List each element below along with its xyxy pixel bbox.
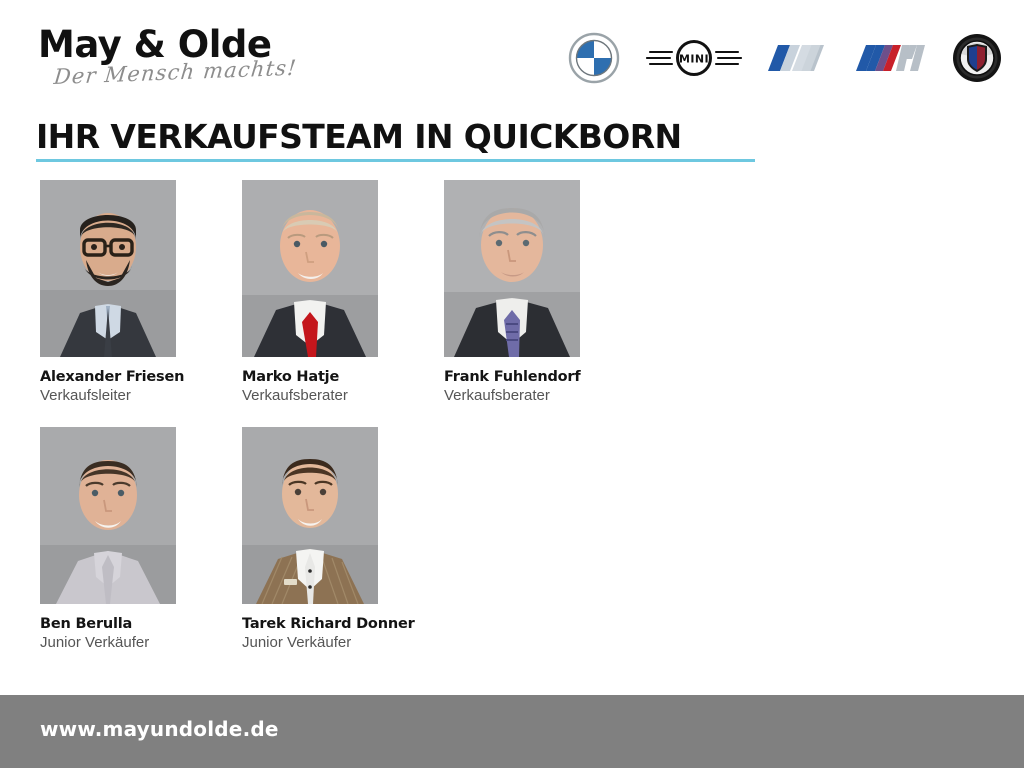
member-role: Junior Verkäufer	[40, 634, 176, 653]
team-grid: Alexander Friesen Verkaufsleiter	[40, 180, 980, 674]
portrait-photo-alexander-friesen	[40, 180, 176, 357]
member-name: Marko Hatje	[242, 368, 378, 386]
page-header: May & Olde Der Mensch machts!	[0, 0, 1024, 112]
bmw-logo	[568, 30, 620, 86]
member-name: Alexander Friesen	[40, 368, 176, 386]
svg-text:MINI: MINI	[679, 53, 709, 66]
portrait-photo-frank-fuhlendorf	[444, 180, 580, 357]
team-member-card[interactable]: Alexander Friesen Verkaufsleiter	[40, 180, 176, 406]
member-name: Tarek Richard Donner	[242, 615, 378, 633]
team-row: Ben Berulla Junior Verkäufer	[40, 427, 980, 653]
portrait-photo-ben-berulla	[40, 427, 176, 604]
member-name: Ben Berulla	[40, 615, 176, 633]
team-member-card[interactable]: Frank Fuhlendorf Verkaufsberater	[444, 180, 580, 406]
member-role: Verkaufsberater	[444, 387, 580, 406]
mini-logo: MINI	[646, 30, 742, 86]
team-member-card[interactable]: Tarek Richard Donner Junior Verkäufer	[242, 427, 378, 653]
bmw-m-logo	[856, 30, 926, 86]
footer-website-url[interactable]: www.mayundolde.de	[40, 717, 279, 741]
brand-logo-strip: MINI	[568, 30, 1002, 86]
member-role: Verkaufsleiter	[40, 387, 176, 406]
portrait-photo-tarek-richard-donner	[242, 427, 378, 604]
portrait-photo-marko-hatje	[242, 180, 378, 357]
member-name: Frank Fuhlendorf	[444, 368, 580, 386]
team-member-card[interactable]: Marko Hatje Verkaufsberater	[242, 180, 378, 406]
company-logo: May & Olde Der Mensch machts!	[38, 26, 338, 106]
bmw-i-logo	[768, 30, 830, 86]
alpina-logo	[952, 30, 1002, 86]
footer-bar: www.mayundolde.de	[0, 695, 1024, 768]
headline-block: IHR VERKAUFSTEAM IN QUICKBORN	[36, 118, 796, 162]
page-title: IHR VERKAUFSTEAM IN QUICKBORN	[36, 118, 796, 156]
member-role: Junior Verkäufer	[242, 634, 378, 653]
member-role: Verkaufsberater	[242, 387, 378, 406]
team-member-card[interactable]: Ben Berulla Junior Verkäufer	[40, 427, 176, 653]
team-row: Alexander Friesen Verkaufsleiter	[40, 180, 980, 406]
title-underline	[36, 159, 755, 162]
